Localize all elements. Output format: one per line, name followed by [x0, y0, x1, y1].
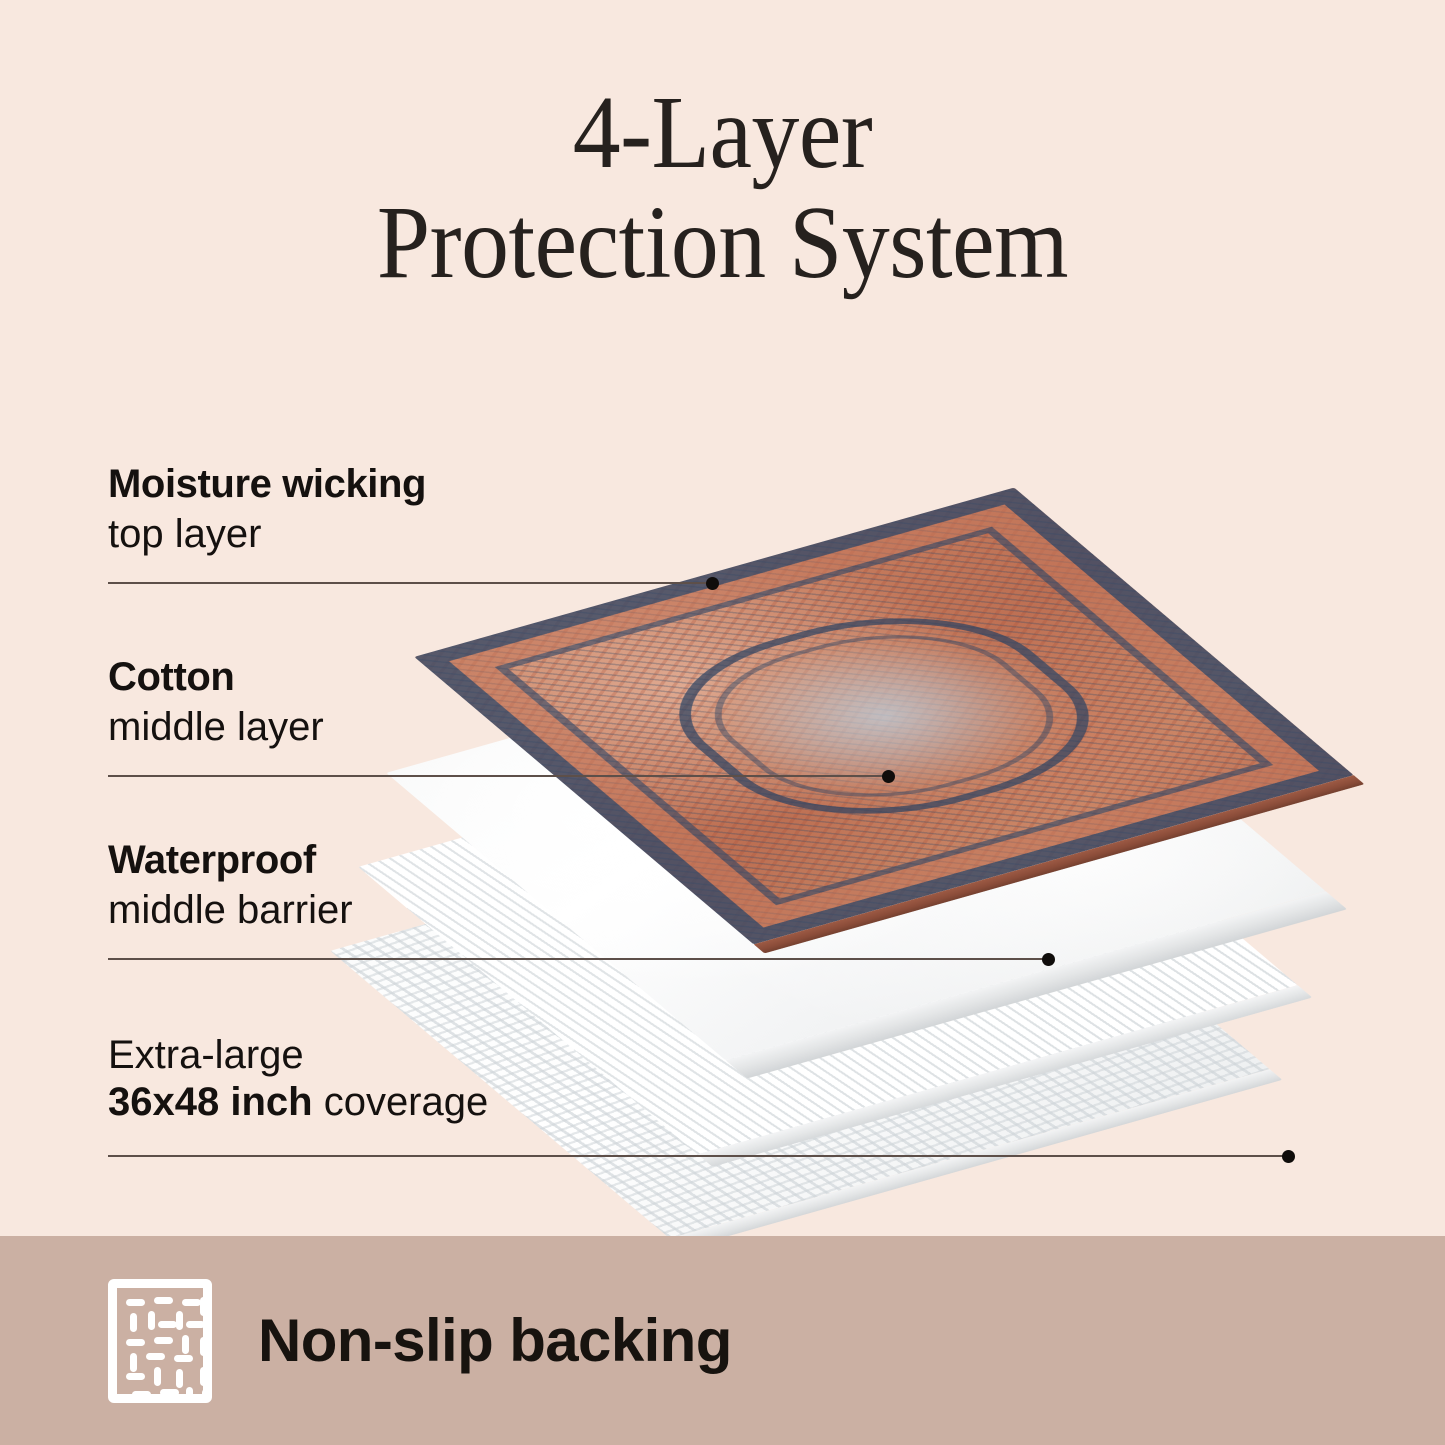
callout-cotton: Cotton middle layer	[108, 655, 324, 751]
leader-line-moisture-wicking	[108, 582, 712, 584]
callout-heading: Cotton	[108, 655, 324, 700]
rug-face	[414, 488, 1354, 945]
leader-dot	[882, 770, 895, 783]
infographic-canvas: 4-Layer Protection System	[0, 0, 1445, 1445]
size-line-2: 36x48 inch coverage	[108, 1079, 488, 1126]
size-coverage-word: coverage	[313, 1080, 489, 1124]
callout-subheading: middle layer	[108, 704, 324, 751]
grip-weave-pattern	[124, 1295, 196, 1387]
callout-waterproof: Waterproof middle barrier	[108, 838, 353, 934]
callout-heading: Waterproof	[108, 838, 353, 883]
non-slip-banner-label: Non-slip backing	[258, 1306, 732, 1375]
callout-heading: Moisture wicking	[108, 462, 426, 507]
leader-line-waterproof	[108, 958, 1048, 960]
page-title: 4-Layer Protection System	[0, 78, 1445, 298]
size-dimensions: 36x48 inch	[108, 1080, 313, 1124]
callout-subheading: top layer	[108, 511, 426, 558]
leader-dot	[706, 577, 719, 590]
title-line-1: 4-Layer	[58, 78, 1387, 188]
callout-subheading: middle barrier	[108, 887, 353, 934]
leader-line-cotton	[108, 775, 888, 777]
callout-size: Extra-large 36x48 inch coverage	[108, 1032, 488, 1126]
callout-moisture-wicking: Moisture wicking top layer	[108, 462, 426, 558]
non-slip-grip-icon	[108, 1279, 212, 1403]
leader-dot	[1042, 953, 1055, 966]
layer-stack-illustration	[470, 330, 1445, 1210]
layer-visual-rug-top	[534, 366, 1234, 1066]
leader-dot	[1282, 1150, 1295, 1163]
leader-line-size	[108, 1155, 1288, 1157]
size-line-1: Extra-large	[108, 1032, 488, 1079]
non-slip-banner: Non-slip backing	[0, 1236, 1445, 1445]
title-line-2: Protection System	[58, 188, 1387, 298]
